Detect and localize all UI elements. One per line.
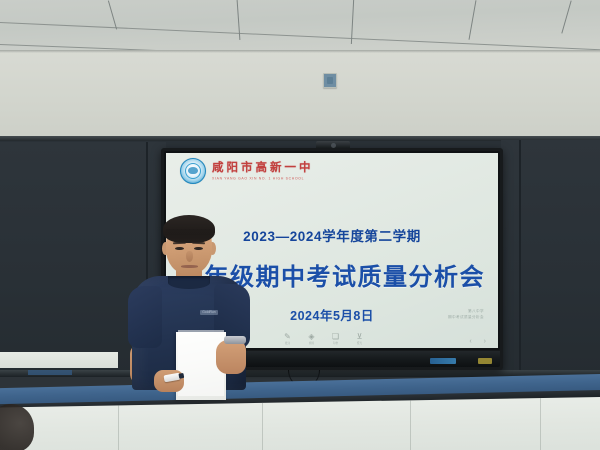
presenter-hand-right	[216, 340, 246, 374]
wall-skirting	[0, 352, 118, 368]
school-name-cn: 咸阳市高新一中	[212, 162, 314, 174]
school-crest-icon	[180, 158, 206, 184]
next-page-icon[interactable]: ›	[484, 338, 486, 345]
display-badge	[430, 358, 456, 364]
school-logo: 咸阳市高新一中 XIAN YANG GAO XIN NO. 1 HIGH SCH…	[180, 158, 314, 184]
presenter: GoldRun	[128, 218, 250, 390]
spotlight-icon[interactable]: ⊻ 聚光	[354, 332, 365, 345]
watermark-line-2: 期中考试质量分析会	[448, 314, 484, 320]
shirt-logo: GoldRun	[200, 310, 218, 315]
blackboard-seam	[519, 140, 521, 374]
presentation-counter	[0, 374, 600, 450]
presenter-collar	[168, 276, 210, 289]
blackboard-panel-right	[501, 140, 600, 374]
pen-icon[interactable]: ✎ 批注	[282, 332, 293, 345]
stamp-icon[interactable]: ❏ 印章	[330, 332, 341, 345]
eraser-icon[interactable]: ◈ 擦除	[306, 332, 317, 345]
slide-pager[interactable]: ‹ ›	[469, 338, 486, 345]
presenter-sleeve-left	[128, 286, 162, 348]
slide-watermark: 第八中学 期中考试质量分析会	[448, 308, 484, 320]
display-badge-secondary	[478, 358, 492, 364]
school-name-en: XIAN YANG GAO XIN NO. 1 HIGH SCHOOL	[212, 176, 314, 181]
ceiling	[0, 0, 600, 52]
presenter-hair	[163, 215, 215, 243]
presenter-mouth	[181, 265, 198, 268]
classroom-photo: 咸阳市高新一中 XIAN YANG GAO XIN NO. 1 HIGH SCH…	[0, 0, 600, 450]
counter-front-panel	[0, 397, 600, 450]
slide-toolbar[interactable]: ✎ 批注 ◈ 擦除 ❏ 印章 ⊻ 聚光	[282, 332, 365, 345]
upper-wall	[0, 50, 600, 142]
presenter-nose	[186, 251, 193, 262]
prev-page-icon[interactable]: ‹	[469, 338, 471, 345]
wall-sensor-icon	[323, 73, 337, 88]
wrist-watch	[224, 336, 246, 344]
